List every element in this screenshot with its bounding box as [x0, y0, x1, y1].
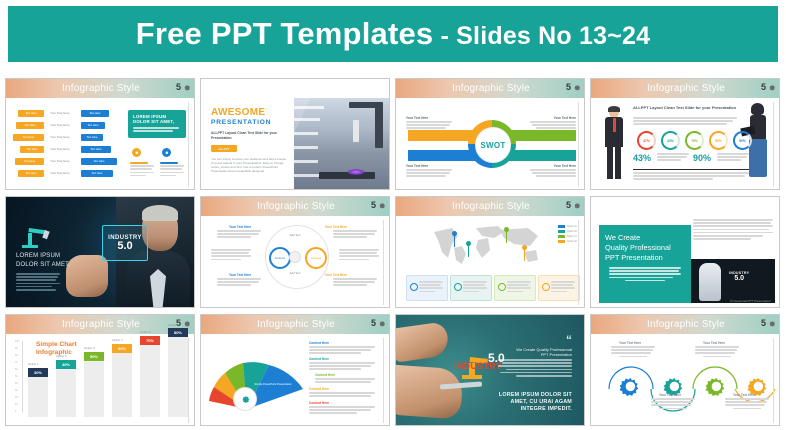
- logo-number: 5: [371, 318, 376, 328]
- swot-text-head-3: Your Text Here: [406, 164, 428, 168]
- bar-row: Text Here: [20, 146, 44, 153]
- slide-header-title: Infographic Style: [647, 83, 725, 94]
- bar-row-right: Text Here: [81, 170, 113, 177]
- slide-thumb-8[interactable]: We Create Quality Professional PPT Prese…: [590, 196, 780, 308]
- donut-chart: 47%: [637, 131, 656, 150]
- text-head-2: Your Text Here: [325, 225, 347, 229]
- page-banner: Free PPT Templates - Slides No 13~24: [8, 6, 778, 62]
- slide-body-text: You can simply impress your audience and…: [211, 157, 289, 173]
- slide-header-title: Infographic Style: [257, 319, 335, 330]
- big-percent-1: 43%: [633, 153, 651, 163]
- bar-mid: Your Text Here: [50, 111, 70, 115]
- quote-heading: We Create Quality Professional PPT Prese…: [498, 347, 572, 357]
- bar-mid: Your Text Here: [50, 171, 70, 175]
- industry-screen: INDUSTRY 5.0: [102, 225, 148, 261]
- slide-header-bar: Infographic Style 5: [6, 79, 195, 98]
- gear-label-4: Your Text Here: [733, 393, 755, 397]
- slide-divider: [383, 338, 384, 423]
- gear-icon: [164, 150, 169, 155]
- y-tick: 10: [15, 403, 18, 406]
- gear-icon: [377, 319, 386, 328]
- banner-title-sub: - Slides No 13~24: [433, 22, 650, 50]
- slide-divider: [383, 220, 384, 305]
- slide-header-title: Infographic Style: [452, 83, 530, 94]
- brand-logo: 5: [371, 200, 386, 210]
- chart-bar: [140, 345, 160, 417]
- content-head-1: Content Here: [309, 341, 329, 345]
- donut-chart: 79%: [685, 131, 704, 150]
- gear-icon: [572, 201, 581, 210]
- chart-bar-value: 70%: [140, 336, 160, 345]
- chart-bar-caption: Option 6: [168, 324, 190, 328]
- swot-ring: SWOT: [468, 120, 516, 168]
- bar-row-right: Text Here: [81, 146, 111, 153]
- heading-line-2: Quality Professional: [605, 243, 685, 253]
- slide-header-bar: Infographic Style 5: [591, 315, 780, 334]
- bar-mid: Your Text Here: [50, 159, 70, 163]
- text-head-1: Your Text Here: [229, 225, 251, 229]
- slide-title: ALLPPT Layout Clean Text Slide for your …: [633, 105, 737, 110]
- awesome-title: AWESOME: [211, 107, 265, 118]
- brand-logo: 5: [761, 318, 776, 328]
- slide-divider: [578, 102, 579, 187]
- bar-row: Text Here: [18, 170, 44, 177]
- dark-title-line2: DOLOR SIT AMET,: [16, 262, 70, 268]
- allppt-badge[interactable]: ALLPPT: [211, 145, 237, 152]
- y-tick: 0: [15, 410, 16, 413]
- robot-arm-icon: [20, 219, 60, 251]
- content-head-5: Content Here: [309, 401, 329, 405]
- slide-header-bar: Infographic Style 5: [591, 79, 780, 98]
- quote-heading-line2: PPT Presentation: [498, 352, 572, 357]
- slide-header-title: Infographic Style: [452, 201, 530, 212]
- slide-thumb-9[interactable]: Infographic Style 5 Simple Chart Infogra…: [5, 314, 195, 426]
- slide-thumb-2[interactable]: AWESOME PRESENTATION ALLPPT Layout Clean…: [200, 78, 390, 190]
- bar-mid: Your Text Here: [50, 135, 70, 139]
- gear-icon: [182, 83, 191, 92]
- bar-left-label: Text Here: [25, 172, 36, 175]
- heading-line-3: PPT Presentation: [605, 253, 685, 263]
- brand-logo: 5: [761, 82, 776, 92]
- chart-bar: [84, 361, 104, 417]
- big-percent-2: 90%: [693, 153, 711, 163]
- slide-header-bar: Infographic Style 5: [6, 315, 195, 334]
- slide-divider: [773, 102, 774, 187]
- bar-row-right: Text Here: [81, 134, 103, 141]
- slide-divider: [188, 338, 189, 423]
- gear-icon: [572, 83, 581, 92]
- speech-pin-blue: [162, 148, 171, 157]
- world-map: [428, 224, 544, 266]
- lorem-text: LOREM IPSUM DOLOR SIT AMET, CU URAI AGAM…: [498, 392, 572, 413]
- bar-mid: Your Text Here: [50, 123, 70, 127]
- slide-header-title: Infographic Style: [647, 319, 725, 330]
- brand-logo: 5: [566, 200, 581, 210]
- donut-chart: 43%: [661, 131, 680, 150]
- slide-thumb-3[interactable]: Infographic Style 5 SWOT: [395, 78, 585, 190]
- chart-bar-caption: Option 4: [112, 339, 134, 343]
- pin-text-blue: [160, 162, 186, 178]
- bar-left-label: Text Here: [25, 112, 36, 115]
- swot-text-head-4: Your Text Here: [554, 164, 576, 168]
- legend-item: Option C: [558, 235, 577, 238]
- slide-subtitle: ALLPPT Layout Clean Text Slide for your …: [211, 131, 285, 140]
- chart-bar-value: 80%: [168, 328, 188, 337]
- gear-icon: [767, 319, 776, 328]
- slide-caption: Professional PPT Presentation: [730, 299, 771, 303]
- node-left: Contents: [269, 247, 291, 269]
- teal-body-text: [609, 267, 681, 283]
- slide-divider: [773, 338, 774, 423]
- slide-thumb-5[interactable]: INDUSTRY 5.0 LOREM IPSUM DOLOR SIT AMET,: [5, 196, 195, 308]
- pin-text-orange: [130, 162, 156, 178]
- bar-left-label: Text Here: [24, 160, 35, 163]
- bar-left-label: Text Here: [24, 124, 35, 127]
- bar-row: Text Here: [15, 158, 44, 165]
- donut-chart: 50%: [709, 131, 728, 150]
- bar-mid: Your Text Here: [50, 147, 70, 151]
- hand: [66, 255, 108, 297]
- fan-center-icon: [233, 387, 257, 411]
- brand-logo: 5: [566, 82, 581, 92]
- node-right: Contents: [305, 247, 327, 269]
- slide-header-title: Infographic Style: [257, 201, 335, 212]
- slide-thumb-6[interactable]: Infographic Style 5 Contents Contents Ad…: [200, 196, 390, 308]
- slide-header-title: Infographic Style: [62, 83, 140, 94]
- slide-note: [633, 169, 749, 182]
- y-tick: 90: [15, 347, 18, 350]
- text-head-3: Your Text Here: [229, 273, 251, 277]
- banner-title: Free PPT Templates - Slides No 13~24: [136, 16, 651, 52]
- quote-body-text: [498, 359, 572, 378]
- logo-number: 5: [566, 82, 571, 92]
- speech-pin-orange: [132, 148, 141, 157]
- bar-row: Text Here: [18, 110, 44, 117]
- swot-diagram: SWOT Your Text Here Your Text Here Your …: [396, 98, 585, 190]
- gear-label-1: Your Text Here: [619, 341, 641, 345]
- bar-row: Text Here: [13, 134, 44, 141]
- chart-bar-caption: Option 1: [28, 363, 50, 367]
- we-create-heading: We Create Quality Professional PPT Prese…: [605, 233, 685, 263]
- content-head-4: Content Here: [309, 387, 329, 391]
- gear-icon: [767, 83, 776, 92]
- slide-header-bar: Infographic Style 5: [201, 315, 390, 334]
- bar-left-label: Text Here: [26, 148, 37, 151]
- dark-body-text: [16, 273, 60, 292]
- bar-left-label: Text Here: [23, 136, 34, 139]
- map-card-1: [406, 275, 448, 301]
- donut-chart: 90%: [733, 131, 752, 150]
- text-head-4: Your Text Here: [325, 273, 347, 277]
- swot-text-head-2: Your Text Here: [554, 116, 576, 120]
- y-tick: 60: [15, 368, 18, 371]
- node-center: [289, 251, 301, 263]
- y-tick: 70: [15, 361, 18, 364]
- slide-body: Text Here Text Here Text Here Text Here …: [6, 98, 195, 190]
- gear-icon: [239, 393, 251, 405]
- legend-item: Option A: [558, 225, 577, 228]
- industry-label: INDUSTRY 5.0: [729, 271, 749, 282]
- fan-caption: Simple PowerPoint Presentation: [253, 383, 293, 386]
- map-card-4: [538, 275, 580, 301]
- logo-number: 5: [761, 318, 766, 328]
- bar-row-right: Text Here: [81, 158, 117, 165]
- chart-bar-caption: Option 5: [140, 331, 162, 335]
- gear-label-2: Your Text Here: [659, 393, 681, 397]
- chart-title-line1: Simple Chart: [36, 341, 77, 349]
- y-tick: 40: [15, 382, 18, 385]
- bar-row: Text Here: [16, 122, 44, 129]
- chart-bar-value: 40%: [56, 360, 76, 369]
- brand-logo: 5: [371, 318, 386, 328]
- content-head-2: Content Here: [309, 357, 329, 361]
- slide-thumb-7[interactable]: Infographic Style 5: [395, 196, 585, 308]
- slide-header-bar: Infographic Style 5: [396, 197, 585, 216]
- slide-divider: [578, 220, 579, 305]
- slide-grid: Infographic Style 5 Text Here Text Here …: [5, 78, 781, 426]
- y-tick: 100: [15, 340, 19, 343]
- printer-photo: [294, 98, 389, 190]
- chart-y-axis: [22, 341, 23, 413]
- presentation-subtitle: PRESENTATION: [211, 119, 271, 126]
- slide-header-title: Infographic Style: [62, 319, 140, 330]
- robot-figure: [699, 263, 721, 301]
- legend-item: Option B: [558, 230, 577, 233]
- slide-thumb-12[interactable]: Infographic Style 5: [590, 314, 780, 426]
- chart-bar-value: 60%: [112, 344, 132, 353]
- person-man-illustration: [601, 107, 627, 181]
- callout-box: LOREM IPSUM DOLOR SIT AMET,: [128, 110, 186, 138]
- chart-bar-value: 50%: [84, 352, 104, 361]
- logo-number: 5: [566, 200, 571, 210]
- page-root: Free PPT Templates - Slides No 13~24 Inf…: [0, 0, 786, 430]
- logo-number: 5: [371, 200, 376, 210]
- callout-line2: DOLOR SIT AMET,: [133, 119, 181, 124]
- slide-thumb-1[interactable]: Infographic Style 5 Text Here Text Here …: [5, 78, 195, 190]
- swot-center-label: SWOT: [480, 141, 505, 150]
- map-legend: Option A Option B Option C Option D: [558, 225, 577, 245]
- bar-row-right: Text Here: [81, 110, 109, 117]
- slide-divider: [188, 102, 189, 187]
- chart-bar: [168, 337, 188, 417]
- chart-bar-caption: Option 3: [84, 347, 106, 351]
- map-card-2: [450, 275, 492, 301]
- banner-title-main: Free PPT Templates: [136, 16, 434, 51]
- slide-thumb-10[interactable]: Infographic Style 5 Simple PowerPoint: [200, 314, 390, 426]
- right-body-text: [693, 219, 773, 241]
- bar-row-right: Text Here: [81, 122, 105, 129]
- chart-bar-value: 30%: [28, 368, 48, 377]
- brand-logo: 5: [176, 82, 191, 92]
- legend-item: Option D: [558, 240, 577, 243]
- center-top-label: Add Text: [279, 233, 311, 237]
- logo-number: 5: [176, 82, 181, 92]
- map-card-3: [494, 275, 536, 301]
- y-tick: 20: [15, 396, 18, 399]
- slide-thumb-4[interactable]: Infographic Style 5: [590, 78, 780, 190]
- slide-thumb-11[interactable]: INDUSTRY 5.0 “ We Create Quality Profess…: [395, 314, 585, 426]
- logo-number: 5: [761, 82, 766, 92]
- content-head-3: Content Here: [315, 373, 335, 377]
- chart-bar-caption: Option 2: [56, 355, 78, 359]
- dark-title-line1: LOREM IPSUM: [16, 253, 60, 259]
- swot-text-head-1: Your Text Here: [406, 116, 428, 120]
- y-tick: 50: [15, 375, 18, 378]
- gear-label-3: Your Text Here: [703, 341, 725, 345]
- quote-mark: “: [566, 335, 572, 345]
- center-bottom-label: Add Text: [279, 271, 311, 275]
- y-tick: 80: [15, 354, 18, 357]
- screen-value: 5.0: [117, 241, 132, 252]
- gear-icon: [134, 150, 139, 155]
- y-tick: 30: [15, 389, 18, 392]
- gear-icon: [377, 201, 386, 210]
- fan-petal-chart: [207, 337, 317, 417]
- slide-header-bar: Infographic Style 5: [201, 197, 390, 216]
- slide-header-bar: Infographic Style 5: [396, 79, 585, 98]
- chart-bar: [112, 353, 132, 417]
- chart-bar: [56, 369, 76, 417]
- chart-bar: [28, 377, 48, 417]
- heading-line-1: We Create: [605, 233, 685, 243]
